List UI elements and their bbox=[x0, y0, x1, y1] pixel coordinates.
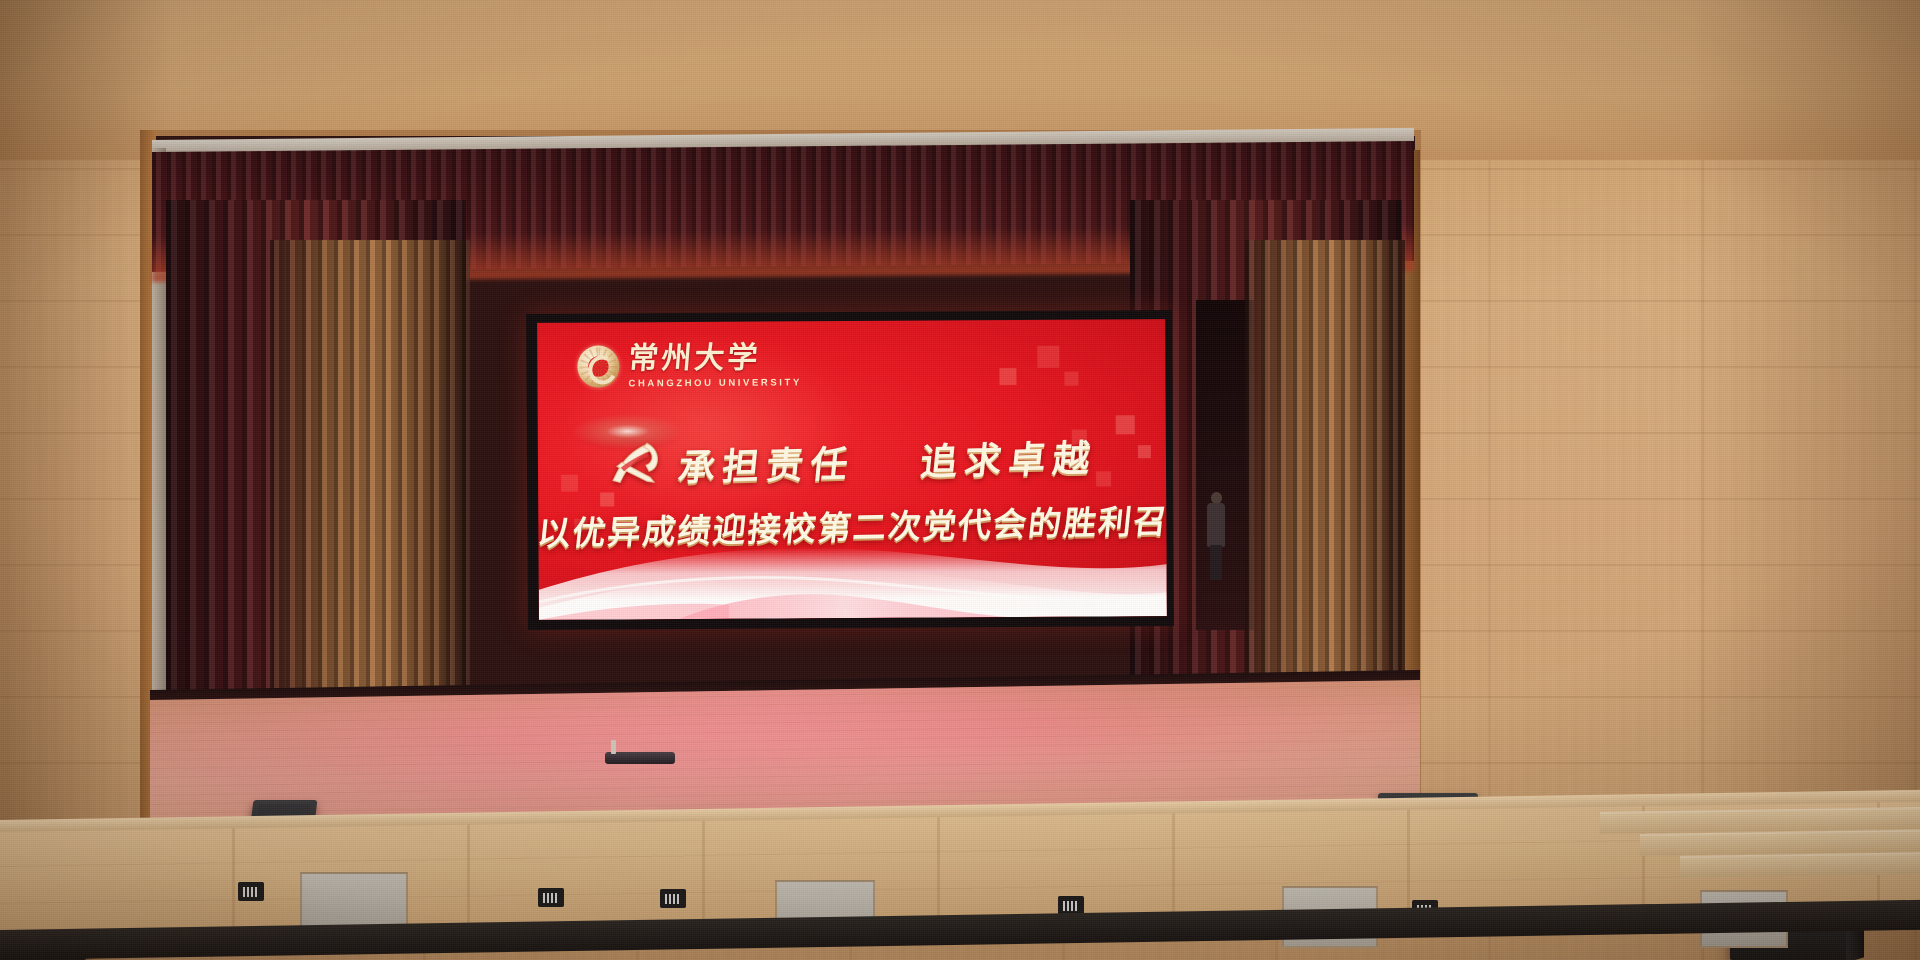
changzhou-university-emblem bbox=[577, 346, 619, 388]
auditorium-photo: 常州大学 CHANGZHOU UNIVERSITY bbox=[0, 0, 1920, 960]
stage-steps bbox=[1680, 852, 1920, 878]
person-legs bbox=[1210, 545, 1222, 580]
floor-microphone bbox=[605, 752, 675, 764]
decor-square bbox=[999, 368, 1016, 385]
slogan-line-1: 承担责任 追求卓越 bbox=[538, 431, 1166, 489]
stage-crew-person bbox=[1206, 492, 1226, 580]
university-name-block: 常州大学 CHANGZHOU UNIVERSITY bbox=[628, 343, 802, 389]
microphone-stem bbox=[611, 740, 616, 754]
slogan-text-line1: 承担责任 追求卓越 bbox=[676, 428, 1100, 492]
university-logo: 常州大学 CHANGZHOU UNIVERSITY bbox=[577, 343, 802, 389]
apron-connector-plate bbox=[238, 882, 264, 901]
led-screen: 常州大学 CHANGZHOU UNIVERSITY bbox=[537, 319, 1167, 620]
slogan-gap bbox=[873, 475, 899, 476]
university-name-cn: 常州大学 bbox=[627, 343, 803, 374]
person-body bbox=[1207, 503, 1225, 547]
hammer-and-sickle-emblem bbox=[607, 436, 665, 486]
slogan-text-1a: 承担责任 bbox=[676, 443, 857, 490]
emblem-spokes bbox=[579, 348, 617, 386]
university-name-en: CHANGZHOU UNIVERSITY bbox=[628, 378, 801, 389]
apron-connector-plate bbox=[660, 889, 686, 908]
silk-wave-ribbons bbox=[538, 512, 1167, 620]
decor-square bbox=[1037, 346, 1059, 368]
slogan-text-1b: 追求卓越 bbox=[918, 437, 1099, 484]
decor-square bbox=[1064, 372, 1078, 386]
apron-connector-plate bbox=[538, 888, 564, 907]
